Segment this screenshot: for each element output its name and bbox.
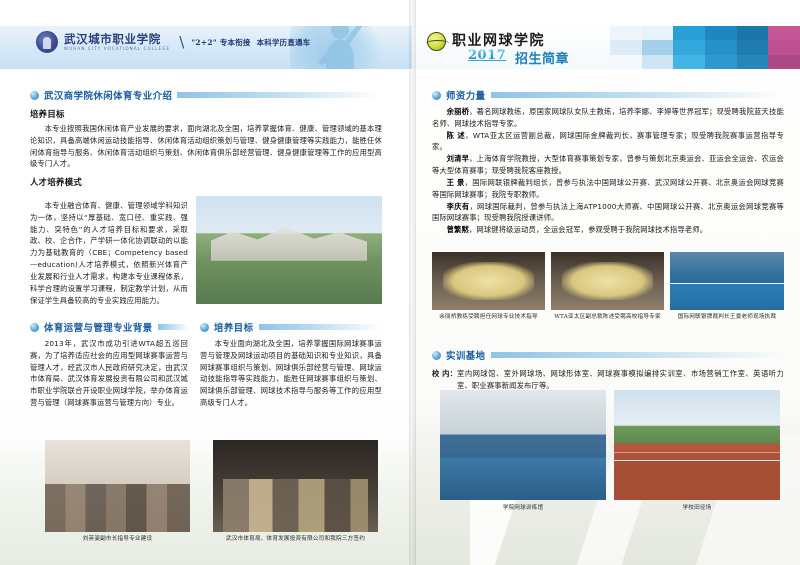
section-heading-faculty: 师资力量 [432, 88, 784, 102]
campus-aerial-photo [196, 196, 382, 304]
paragraph-background: 2013年，武汉市成功引进WTA超五巡回赛，为了培养适应社会的应用型网球赛事运营… [30, 338, 188, 409]
photo-track-field [614, 390, 780, 500]
tennis-ball-icon [427, 32, 446, 51]
tagline-1: "2+2" 专本衔接 [191, 37, 250, 48]
college-name-block: 武汉城市职业学院 WUHAN CITY VOCATIONAL COLLEGE [64, 33, 170, 51]
divider-slash: \ [179, 33, 184, 51]
heading-rule [491, 352, 784, 358]
mosaic-decoration [610, 26, 800, 69]
section-heading-training-base: 实训基地 [432, 348, 784, 362]
faculty-description: ，上海体育学院教授，大型体育赛事策划专家，曾参与策划北京奥运会、亚运会全运会、农… [432, 154, 784, 175]
paragraph-talent-model-wrap: 本专业融合体育、健康、管理领域学科知识为一体，坚持以“厚基础、宽口径、重实践、强… [30, 200, 188, 306]
faculty-entry-list: 余丽桥，著名网球教练，原国家网球队女队主教练，培养李娜、李婷等世界冠军；现受聘我… [432, 106, 784, 236]
photo-block-track-field: 学校田径场 [614, 390, 780, 511]
faculty-entry: 陈 述，WTA亚太区运营副总裁，网球国际金牌裁判长，赛事管理专家；现受聘我院赛事… [432, 130, 784, 154]
brochure-spread: 武汉城市职业学院 WUHAN CITY VOCATIONAL COLLEGE \… [0, 0, 800, 565]
section-heading-goal: 培养目标 [200, 320, 382, 334]
heading-rule [259, 324, 382, 330]
bullet-dot-icon [432, 91, 441, 100]
heading-rule [491, 92, 784, 98]
photo-three-party-signing [213, 440, 378, 532]
right-section-training-base: 实训基地 校 内： 室内网球馆、室外网球场、网球形体室、网球赛事模拟编排实训室、… [432, 348, 784, 392]
faculty-entry: 刘清早，上海体育学院教授，大型体育赛事策划专家，曾参与策划北京奥运会、亚运会全运… [432, 153, 784, 177]
faculty-name: 陈 述 [447, 131, 466, 140]
right-section-faculty: 师资力量 余丽桥，著名网球教练，原国家网球队女队主教练，培养李娜、李婷等世界冠军… [432, 88, 784, 236]
faculty-name: 李庆有 [447, 202, 470, 211]
faculty-description: ，著名网球教练，原国家网球队女队主教练，培养李娜、李婷等世界冠军；现受聘我院蓝天… [432, 107, 784, 128]
training-base-text-row: 校 内： 室内网球馆、室外网球场、网球形体室、网球赛事模拟编排实训室、市场营销工… [432, 368, 784, 392]
page-gutter-shadow [409, 0, 416, 565]
faculty-name: 曾繁黙 [447, 225, 469, 234]
faculty-description: ，WTA亚太区运营副总裁，网球国际金牌裁判长，赛事管理专家；现受聘我院赛事运营指… [432, 131, 784, 152]
section-title: 师资力量 [446, 88, 486, 102]
section-title: 体育运营与管理专业背景 [44, 320, 153, 334]
photo-caption: 国际网联银牌裁判长王景老师现场执裁 [670, 312, 784, 320]
faculty-description: ，网球国际裁判，曾参与执法上海ATP1000大师赛、中国网球公开赛、北京奥运会网… [432, 202, 784, 223]
section-heading-intro: 武汉商学院休闲体育专业介绍 [30, 88, 382, 102]
photo-caption: 学院网球训练馆 [440, 503, 606, 511]
bullet-dot-icon [30, 91, 39, 100]
paragraph-training-goal: 本专业按照我国休闲体育产业发展的要求，面向湖北及全国，培养掌握体育、健康、管理领… [30, 123, 382, 170]
college-logo-lockup: 武汉城市职业学院 WUHAN CITY VOCATIONAL COLLEGE \… [36, 31, 310, 53]
paragraph-talent-model: 本专业融合体育、健康、管理领域学科知识为一体，坚持以“厚基础、宽口径、重实践、强… [30, 200, 188, 306]
section-title: 实训基地 [446, 348, 486, 362]
faculty-entry: 李庆有，网球国际裁判，曾参与执法上海ATP1000大师赛、中国网球公开赛、北京奥… [432, 201, 784, 225]
college-crest-icon [36, 31, 58, 53]
tagline-2: 本科学历直通车 [257, 37, 311, 48]
photo-wta-exec [551, 252, 664, 310]
section-title: 武汉商学院休闲体育专业介绍 [44, 88, 172, 102]
faculty-description: ，网球健将级运动员，全运会冠军，参观受聘于我院网球技术指导老师。 [469, 225, 707, 234]
bullet-dot-icon [200, 323, 209, 332]
photo-block-referee-wang: 国际网联银牌裁判长王景老师现场执裁 [670, 252, 784, 320]
photo-block-wta-exec: WTA亚太区副总裁陈述受聘高校指导专家 [551, 252, 664, 320]
faculty-name: 王 景 [447, 178, 465, 187]
tennis-player-silhouette-icon [300, 26, 378, 69]
academy-year-label: 招生简章 [515, 48, 569, 67]
photo-indoor-tennis-hall [440, 390, 606, 500]
faculty-description: ，国际网联银牌裁判组长，曾参与执法中国网球公开赛、武汉网球公开赛、北京奥运会网球… [432, 178, 784, 199]
faculty-name: 余丽桥 [447, 107, 470, 116]
faculty-entry: 余丽桥，著名网球教练，原国家网球队女队主教练，培养李娜、李婷等世界冠军；现受聘我… [432, 106, 784, 130]
top-white-margin [0, 0, 412, 26]
left-section-intro: 武汉商学院休闲体育专业介绍 培养目标 本专业按照我国休闲体育产业发展的要求，面向… [30, 88, 382, 191]
section-heading-background: 体育运营与管理专业背景 [30, 320, 188, 334]
right-header-banner: 职业网球学院 2017 招生简章 [412, 26, 800, 69]
academy-year: 2017 [468, 48, 506, 63]
bullet-dot-icon [30, 323, 39, 332]
bullet-dot-icon [432, 351, 441, 360]
college-name-cn: 武汉城市职业学院 [64, 33, 170, 45]
academy-name-cn: 职业网球学院 [452, 30, 545, 50]
faculty-photo-row: 余丽桥教练受聘担任网球专业技术指导 WTA亚太区副总裁陈述受聘高校指导专家 国际… [432, 252, 784, 320]
photo-block-vice-mayor: 刘英姿副市长指导专业建设 [45, 440, 190, 542]
photo-block-coach-yu: 余丽桥教练受聘担任网球专业技术指导 [432, 252, 545, 320]
left-section-goal: 培养目标 本专业面向湖北及全国，培养掌握国际网球赛事运营与管理及网球运动项目的基… [200, 320, 382, 409]
photo-caption: 学校田径场 [614, 503, 780, 511]
left-section-background: 体育运营与管理专业背景 2013年，武汉市成功引进WTA超五巡回赛，为了培养适应… [30, 320, 188, 409]
college-name-en: WUHAN CITY VOCATIONAL COLLEGE [64, 47, 170, 51]
photo-block-indoor-hall: 学院网球训练馆 [440, 390, 606, 511]
subheading-talent-model: 人才培养模式 [30, 176, 382, 188]
photo-caption: WTA亚太区副总裁陈述受聘高校指导专家 [551, 312, 664, 320]
paragraph-goal: 本专业面向湖北及全国，培养掌握国际网球赛事运营与管理及网球运动项目的基础知识和专… [200, 338, 382, 409]
faculty-entry: 王 景，国际网联银牌裁判组长，曾参与执法中国网球公开赛、武汉网球公开赛、北京奥运… [432, 177, 784, 201]
heading-rule [177, 92, 382, 98]
training-base-body: 室内网球馆、室外网球场、网球形体室、网球赛事模拟编排实训室、市场营销工作室、英语… [457, 368, 784, 392]
subheading-training-goal: 培养目标 [30, 108, 382, 120]
section-title: 培养目标 [214, 320, 254, 334]
heading-rule [158, 324, 188, 330]
training-base-label: 校 内： [432, 368, 457, 392]
left-header-banner: 武汉城市职业学院 WUHAN CITY VOCATIONAL COLLEGE \… [0, 26, 412, 69]
faculty-name: 刘清早 [447, 154, 470, 163]
photo-caption: 武汉市体育局、体育发展投资有限公司和我院三方签约 [213, 534, 378, 542]
training-base-photo-row: 学院网球训练馆 学校田径场 [440, 390, 780, 511]
photo-coach-yu [432, 252, 545, 310]
faculty-entry: 曾繁黙，网球健将级运动员，全运会冠军，参观受聘于我院网球技术指导老师。 [432, 224, 784, 236]
photo-vice-mayor-visit [45, 440, 190, 532]
photo-caption: 刘英姿副市长指导专业建设 [45, 534, 190, 542]
photo-caption: 余丽桥教练受聘担任网球专业技术指导 [432, 312, 545, 320]
photo-block-signing: 武汉市体育局、体育发展投资有限公司和我院三方签约 [213, 440, 378, 542]
photo-referee-wang [670, 252, 784, 310]
